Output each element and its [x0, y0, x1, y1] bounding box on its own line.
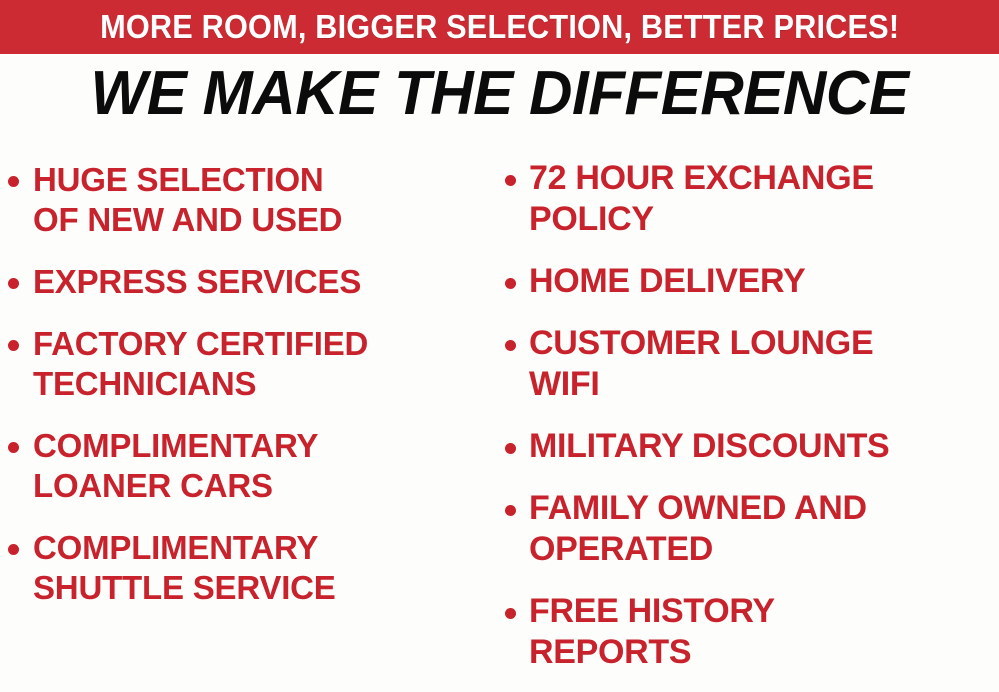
features-column-left: HUGE SELECTION OF NEW AND USED EXPRESS S… — [8, 150, 500, 608]
bullet-dot-icon — [505, 608, 516, 619]
bullet-dot-icon — [505, 278, 516, 289]
list-item: COMPLIMENTARY SHUTTLE SERVICE — [8, 528, 500, 608]
bullet-dot-icon — [8, 340, 19, 351]
list-item-label: COMPLIMENTARY SHUTTLE SERVICE — [33, 528, 500, 608]
advertisement-banner: MORE ROOM, BIGGER SELECTION, BETTER PRIC… — [0, 0, 999, 692]
list-item: EXPRESS SERVICES — [8, 262, 500, 302]
list-item-label: FREE HISTORY REPORTS — [529, 591, 999, 673]
list-item-label: FACTORY CERTIFIED TECHNICIANS — [33, 324, 500, 404]
list-item-label: COMPLIMENTARY LOANER CARS — [33, 426, 500, 506]
bullet-dot-icon — [8, 442, 19, 453]
bullet-dot-icon — [8, 544, 19, 555]
list-item-label: MILITARY DISCOUNTS — [529, 426, 999, 467]
list-item: HOME DELIVERY — [505, 261, 999, 302]
list-item: COMPLIMENTARY LOANER CARS — [8, 426, 500, 506]
promo-banner-text: MORE ROOM, BIGGER SELECTION, BETTER PRIC… — [100, 10, 899, 44]
features-columns: HUGE SELECTION OF NEW AND USED EXPRESS S… — [0, 150, 999, 692]
list-item: 72 HOUR EXCHANGE POLICY — [505, 158, 999, 240]
promo-banner: MORE ROOM, BIGGER SELECTION, BETTER PRIC… — [0, 0, 999, 54]
list-item-label: EXPRESS SERVICES — [33, 262, 500, 302]
list-item-label: CUSTOMER LOUNGE WIFI — [529, 323, 999, 405]
bullet-dot-icon — [505, 443, 516, 454]
list-item-label: FAMILY OWNED AND OPERATED — [529, 488, 999, 570]
bullet-dot-icon — [8, 176, 19, 187]
list-item: CUSTOMER LOUNGE WIFI — [505, 323, 999, 405]
list-item: FACTORY CERTIFIED TECHNICIANS — [8, 324, 500, 404]
list-item-label: 72 HOUR EXCHANGE POLICY — [529, 158, 999, 240]
list-item: FAMILY OWNED AND OPERATED — [505, 488, 999, 570]
bullet-dot-icon — [505, 340, 516, 351]
bullet-dot-icon — [505, 505, 516, 516]
list-item-label: HOME DELIVERY — [529, 261, 999, 302]
headline: WE MAKE THE DIFFERENCE — [15, 58, 984, 130]
list-item-label: HUGE SELECTION OF NEW AND USED — [33, 160, 500, 240]
list-item: MILITARY DISCOUNTS — [505, 426, 999, 467]
list-item: FREE HISTORY REPORTS — [505, 591, 999, 673]
list-item: HUGE SELECTION OF NEW AND USED — [8, 160, 500, 240]
features-column-right: 72 HOUR EXCHANGE POLICY HOME DELIVERY CU… — [505, 150, 999, 673]
bullet-dot-icon — [8, 278, 19, 289]
bullet-dot-icon — [505, 175, 516, 186]
